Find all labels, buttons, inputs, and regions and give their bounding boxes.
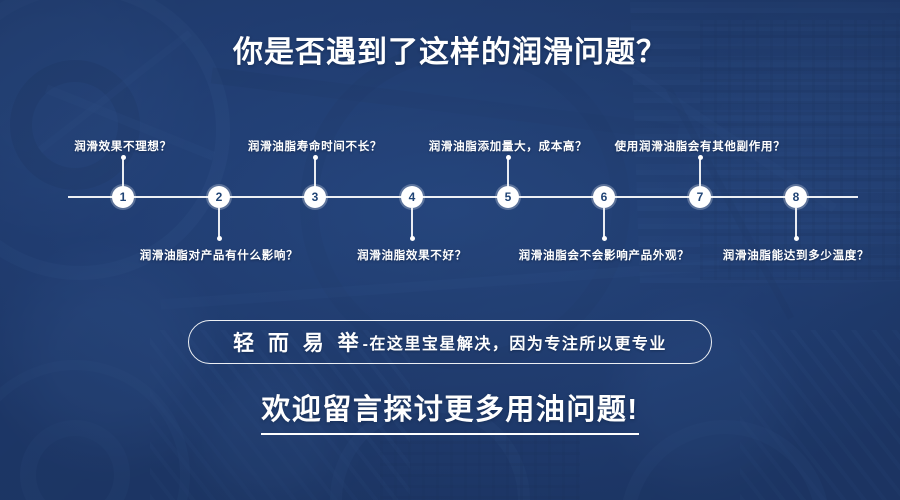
timeline-label-8: 润滑油脂能达到多少温度？ (723, 247, 869, 263)
timeline-node-3[interactable]: 3 (304, 186, 326, 208)
timeline-label-6: 润滑油脂会不会影响产品外观？ (519, 247, 690, 263)
timeline-node-5[interactable]: 5 (497, 186, 519, 208)
timeline-node-1[interactable]: 1 (112, 186, 134, 208)
timeline-stem-5 (507, 158, 509, 188)
timeline-stem-4 (411, 208, 413, 238)
timeline-label-1: 润滑效果不理想？ (74, 138, 172, 154)
timeline-label-4: 润滑油脂效果不好？ (357, 247, 467, 263)
timeline-node-7[interactable]: 7 (689, 186, 711, 208)
cta-message[interactable]: 欢迎留言探讨更多用油问题! (261, 386, 638, 435)
timeline-node-6[interactable]: 6 (593, 186, 615, 208)
banner-content: 你是否遇到了这样的润滑问题？ 润滑效果不理想？ 1 润滑油脂对产品有什么影响？ … (0, 0, 900, 500)
timeline-node-4[interactable]: 4 (401, 186, 423, 208)
solution-pill-text: -在这里宝星解决，因为专注所以更专业 (363, 330, 667, 354)
solution-pill-emphasis: 轻 而 易 举 (233, 327, 363, 357)
timeline-stem-8 (795, 208, 797, 238)
timeline-axis (68, 196, 858, 198)
timeline-stem-1 (122, 158, 124, 188)
timeline-stem-6 (603, 208, 605, 238)
solution-pill: 轻 而 易 举 -在这里宝星解决，因为专注所以更专业 (188, 320, 712, 364)
timeline-node-8[interactable]: 8 (785, 186, 807, 208)
timeline-stem-3 (314, 158, 316, 188)
timeline-node-2[interactable]: 2 (208, 186, 230, 208)
lubrication-problem-banner: 你是否遇到了这样的润滑问题？ 润滑效果不理想？ 1 润滑油脂对产品有什么影响？ … (0, 0, 900, 500)
timeline-stem-7 (699, 158, 701, 188)
timeline-label-3: 润滑油脂寿命时间不长？ (248, 138, 382, 154)
timeline-label-7: 使用润滑油脂会有其他副作用？ (615, 138, 786, 154)
cta-container: 欢迎留言探讨更多用油问题! (0, 386, 900, 435)
timeline-stem-2 (218, 208, 220, 238)
timeline-label-5: 润滑油脂添加量大，成本高？ (429, 138, 588, 154)
timeline-label-2: 润滑油脂对产品有什么影响？ (140, 247, 299, 263)
